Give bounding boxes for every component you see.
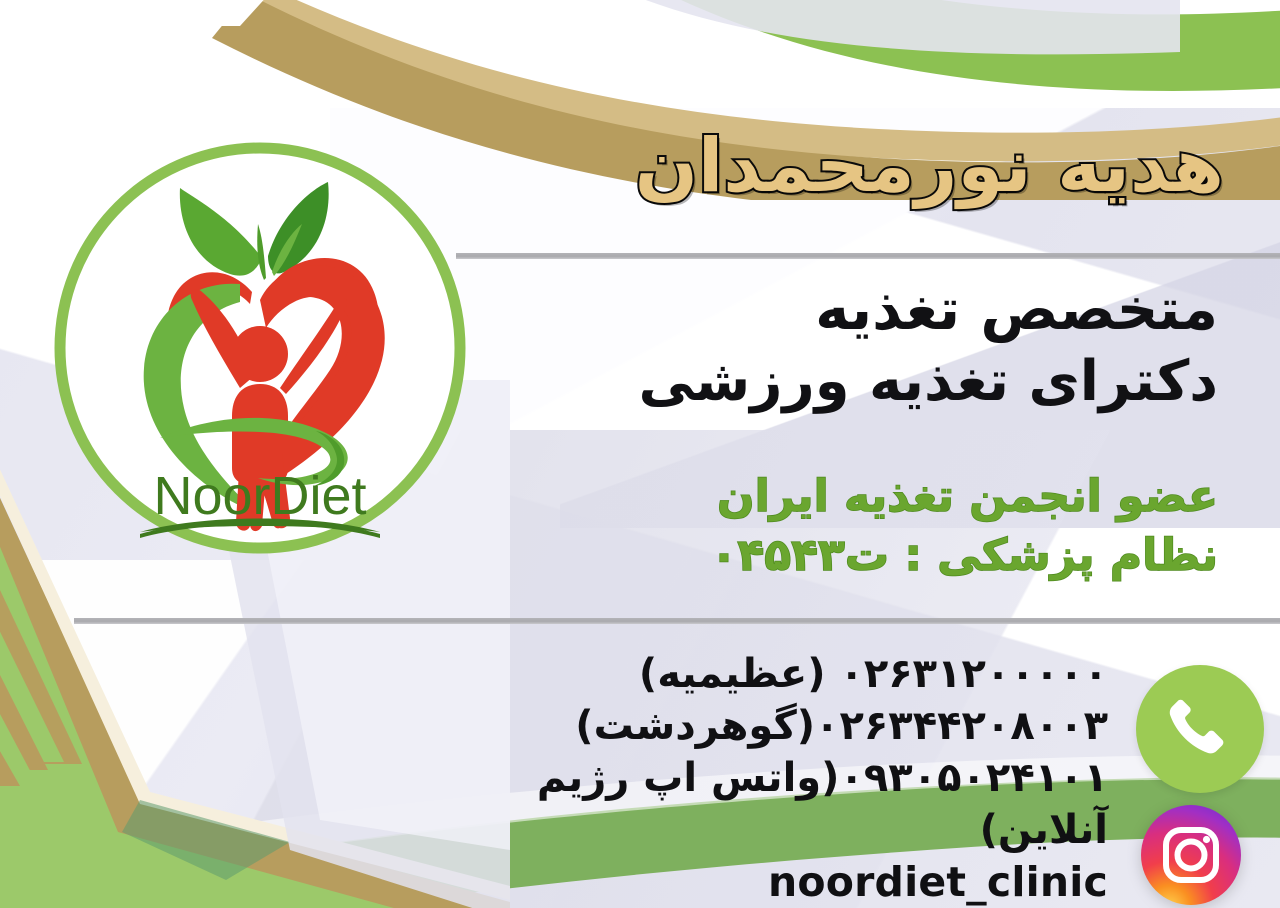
separator-bottom bbox=[74, 618, 1280, 624]
instagram-handle[interactable]: noordiet_clinic bbox=[408, 856, 1108, 908]
business-card: NoorDiet هدیه نورمحمدان متخصص تغذیه دکتر… bbox=[0, 0, 1280, 908]
credential-association: عضو انجمن تغذیه ایران bbox=[558, 468, 1218, 527]
job-title-secondary: دکترای تغذیه ورزشی bbox=[558, 346, 1218, 418]
phone-gohardasht[interactable]: ۰۲۶۳۴۴۲۰۸۰۰۳(گوهردشت) bbox=[408, 700, 1108, 752]
instagram-icon[interactable] bbox=[1136, 800, 1246, 908]
credentials: عضو انجمن تغذیه ایران نظام پزشکی : ت۰۴۵۴… bbox=[558, 468, 1218, 585]
mobile-whatsapp[interactable]: ۰۹۳۰۵۰۲۴۱۰۱(واتس اپ رژیم آنلاین) bbox=[408, 752, 1108, 856]
person-name: هدیه نورمحمدان bbox=[524, 126, 1224, 207]
phone-azimieh[interactable]: ۰۲۶۳۱۲۰۰۰۰۰ (عظیمیه) bbox=[408, 648, 1108, 700]
credential-medical-number: نظام پزشکی : ت۰۴۵۴۳ bbox=[558, 527, 1218, 586]
job-title-primary: متخصص تغذیه bbox=[558, 272, 1218, 346]
phone-icon[interactable] bbox=[1136, 665, 1264, 793]
noordiet-logo: NoorDiet bbox=[44, 132, 476, 564]
job-titles: متخصص تغذیه دکترای تغذیه ورزشی bbox=[558, 272, 1218, 418]
separator-top bbox=[456, 253, 1280, 259]
contact-details: ۰۲۶۳۱۲۰۰۰۰۰ (عظیمیه) ۰۲۶۳۴۴۲۰۸۰۰۳(گوهردش… bbox=[408, 648, 1108, 908]
logo-wordmark: NoorDiet bbox=[153, 466, 366, 526]
